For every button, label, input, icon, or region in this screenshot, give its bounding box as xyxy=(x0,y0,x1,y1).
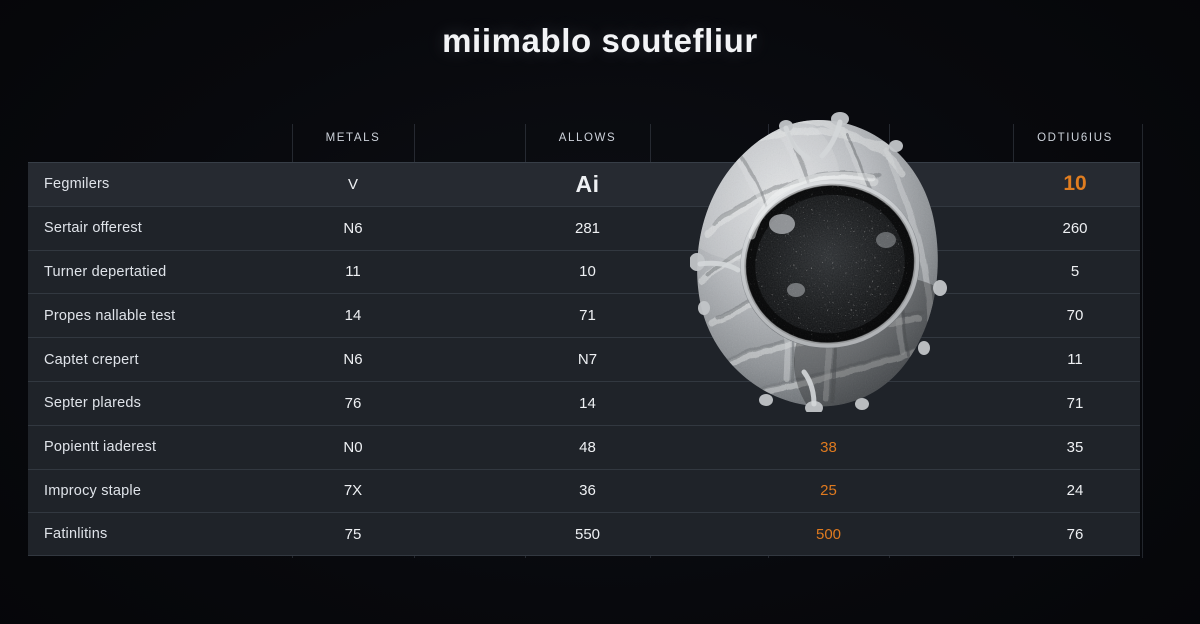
table-cell xyxy=(889,337,1010,381)
table-cell xyxy=(768,162,889,206)
table-header-cell-5 xyxy=(768,114,889,162)
data-table: METALS ALLOWS ODTIU6IUS Fegmilers V Ai 1… xyxy=(28,114,1143,558)
table-cell xyxy=(889,425,1010,469)
table-cell xyxy=(650,250,768,294)
table-cell xyxy=(768,381,889,425)
table-cell xyxy=(414,206,525,250)
table-cell: N0 xyxy=(292,425,414,469)
table-cell xyxy=(414,512,525,556)
table-cell: 25 xyxy=(768,469,889,513)
table-cell: 75 xyxy=(292,512,414,556)
table-cell xyxy=(889,293,1010,337)
cell-value: 36 xyxy=(579,482,596,499)
cell-value: 11 xyxy=(345,263,361,280)
table-cell xyxy=(414,469,525,513)
cell-value: 5 xyxy=(1071,263,1079,280)
cell-value: 260 xyxy=(1062,220,1087,237)
page-title: miimablo soutefliur xyxy=(0,22,1200,60)
table-row[interactable]: Sertair offerest xyxy=(28,206,292,250)
row-label: Popientt iaderest xyxy=(44,439,156,455)
row-label: Fegmilers xyxy=(44,176,109,192)
cell-value: 75 xyxy=(345,526,362,543)
table-cell xyxy=(414,381,525,425)
cell-value: 281 xyxy=(575,220,600,237)
cell-value: 35 xyxy=(1067,439,1084,456)
table-cell: 7X xyxy=(292,469,414,513)
table-cell: 76 xyxy=(292,381,414,425)
table-cell xyxy=(650,469,768,513)
table-cell xyxy=(650,512,768,556)
table-cell: 24 xyxy=(1010,469,1140,513)
table-row[interactable]: Fegmilers xyxy=(28,162,292,206)
table-cell xyxy=(650,337,768,381)
table-cell xyxy=(889,381,1010,425)
cell-value: N0 xyxy=(343,439,362,456)
table-cell xyxy=(650,162,768,206)
table-row[interactable]: Popientt iaderest xyxy=(28,425,292,469)
table-row[interactable]: Septer plareds xyxy=(28,381,292,425)
table-cell xyxy=(768,293,889,337)
table-cell xyxy=(650,293,768,337)
table-cell: 10 xyxy=(525,250,650,294)
cell-value-highlight: 38 xyxy=(820,439,837,456)
cell-value: Ai xyxy=(576,171,600,198)
cell-value: 7X xyxy=(344,482,362,499)
table-header-cell-4 xyxy=(650,114,768,162)
table-cell: 500 xyxy=(768,512,889,556)
table-cell xyxy=(889,206,1010,250)
cell-value: 70 xyxy=(1067,307,1084,324)
table-row[interactable]: Fatinlitins xyxy=(28,512,292,556)
table-row[interactable]: Improcy staple xyxy=(28,469,292,513)
table-cell xyxy=(414,337,525,381)
cell-value: N7 xyxy=(578,351,597,368)
table-cell: 48 xyxy=(525,425,650,469)
cell-value: 71 xyxy=(579,307,596,324)
table-row[interactable]: Captet crepert xyxy=(28,337,292,381)
table-header-cell-metals[interactable]: METALS xyxy=(292,114,414,162)
table-row[interactable]: Turner depertatied xyxy=(28,250,292,294)
table-header-cell-2 xyxy=(414,114,525,162)
table-cell: 71 xyxy=(1010,381,1140,425)
table-cell xyxy=(889,512,1010,556)
cell-value: 550 xyxy=(575,526,600,543)
table-cell: 14 xyxy=(292,293,414,337)
table-cell xyxy=(768,206,889,250)
cell-value: N6 xyxy=(343,220,362,237)
table-grid: METALS ALLOWS ODTIU6IUS Fegmilers V Ai 1… xyxy=(28,114,1143,558)
table-header-cell-6 xyxy=(889,114,1010,162)
table-cell: 11 xyxy=(292,250,414,294)
table-cell xyxy=(768,250,889,294)
cell-value-highlight: 10 xyxy=(1063,172,1086,196)
table-cell xyxy=(889,162,1010,206)
table-header-cell-0 xyxy=(28,114,292,162)
cell-value: 14 xyxy=(345,307,362,324)
row-label: Sertair offerest xyxy=(44,220,142,236)
cell-value: 76 xyxy=(1067,526,1084,543)
row-label: Propes nallable test xyxy=(44,308,175,324)
cell-value: V xyxy=(348,176,358,193)
row-label: Captet crepert xyxy=(44,352,139,368)
table-row[interactable]: Propes nallable test xyxy=(28,293,292,337)
cell-value: 76 xyxy=(345,395,362,412)
table-cell: N6 xyxy=(292,337,414,381)
row-label: Turner depertatied xyxy=(44,264,166,280)
table-cell: 14 xyxy=(525,381,650,425)
table-cell: 76 xyxy=(1010,512,1140,556)
row-label: Improcy staple xyxy=(44,483,141,499)
table-cell xyxy=(414,250,525,294)
cell-value: 14 xyxy=(579,395,596,412)
table-cell xyxy=(768,337,889,381)
table-cell: 36 xyxy=(525,469,650,513)
table-cell: 550 xyxy=(525,512,650,556)
table-cell xyxy=(889,250,1010,294)
cell-value-highlight: 500 xyxy=(816,526,841,543)
row-label: Fatinlitins xyxy=(44,526,107,542)
row-label: Septer plareds xyxy=(44,395,141,411)
table-cell xyxy=(650,206,768,250)
table-header-cell-allows[interactable]: ALLOWS xyxy=(525,114,650,162)
cell-value: 11 xyxy=(1067,351,1083,368)
table-cell: 10 xyxy=(1010,162,1140,206)
cell-value: 24 xyxy=(1067,482,1084,499)
table-cell: 260 xyxy=(1010,206,1140,250)
cell-value: 10 xyxy=(579,263,596,280)
table-cell xyxy=(414,293,525,337)
table-cell: N7 xyxy=(525,337,650,381)
cell-value: 48 xyxy=(579,439,596,456)
table-cell xyxy=(889,469,1010,513)
table-cell: 11 xyxy=(1010,337,1140,381)
table-cell: 5 xyxy=(1010,250,1140,294)
table-cell: 38 xyxy=(768,425,889,469)
table-cell: 71 xyxy=(525,293,650,337)
table-cell: 281 xyxy=(525,206,650,250)
table-header-cell-odtiu6ius[interactable]: ODTIU6IUS xyxy=(1010,114,1140,162)
table-cell xyxy=(650,381,768,425)
table-cell xyxy=(414,162,525,206)
page-root: miimablo soutefliur METALS ALLOWS ODTIU6… xyxy=(0,0,1200,624)
table-cell xyxy=(650,425,768,469)
cell-value: N6 xyxy=(343,351,362,368)
table-cell: 70 xyxy=(1010,293,1140,337)
cell-value-highlight: 25 xyxy=(820,482,837,499)
table-cell xyxy=(414,425,525,469)
table-cell: V xyxy=(292,162,414,206)
cell-value: 71 xyxy=(1067,395,1084,412)
table-cell: 35 xyxy=(1010,425,1140,469)
table-cell: Ai xyxy=(525,162,650,206)
table-cell: N6 xyxy=(292,206,414,250)
